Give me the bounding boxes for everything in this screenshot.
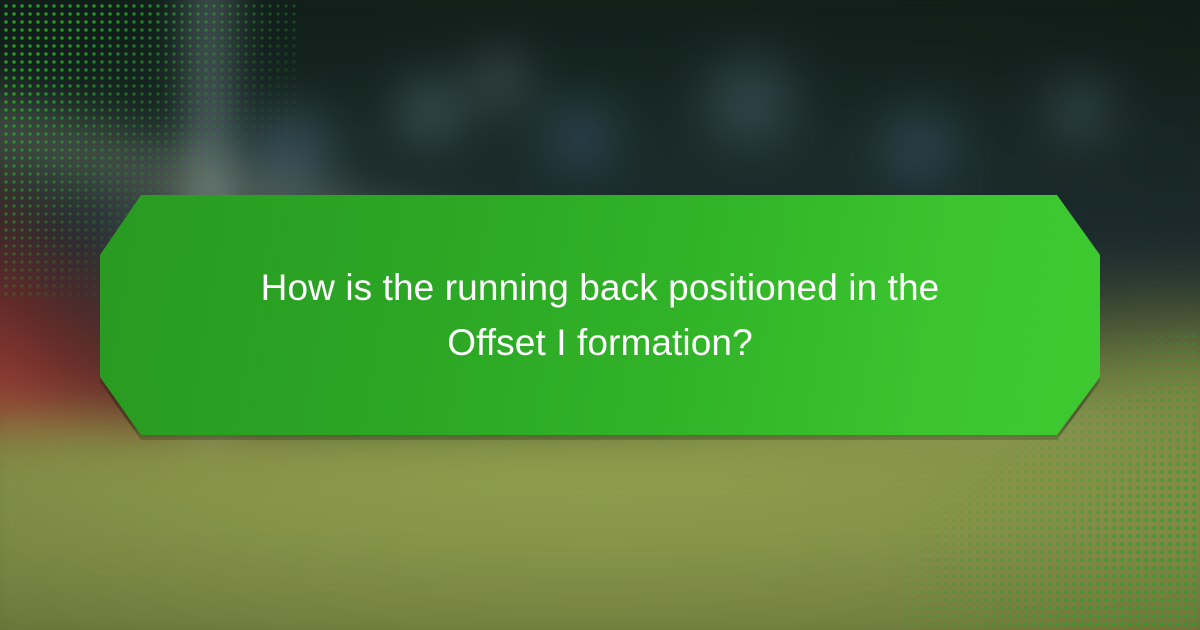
question-banner: How is the running back positioned in th… (100, 195, 1100, 435)
question-card-stage: How is the running back positioned in th… (0, 0, 1200, 630)
question-text: How is the running back positioned in th… (220, 260, 980, 371)
